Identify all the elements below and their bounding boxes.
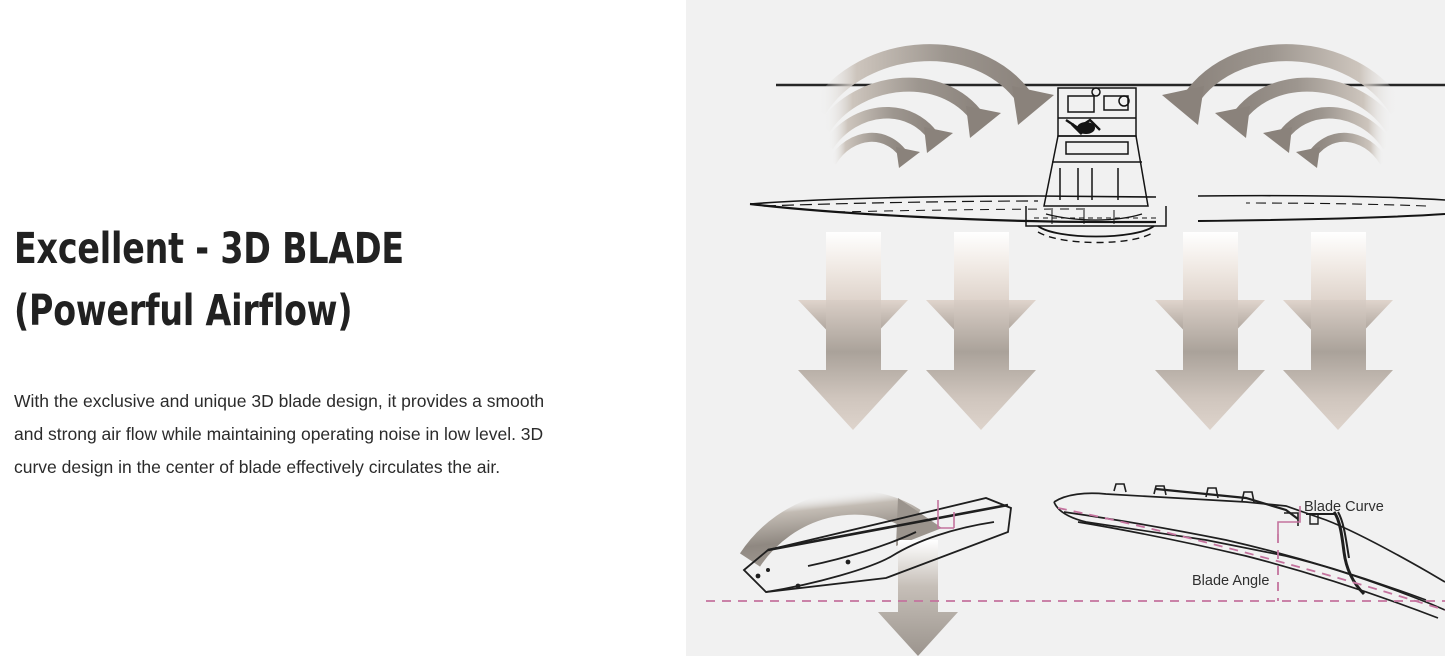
blade-angle-label: Blade Angle bbox=[1192, 573, 1269, 589]
down-arrow-4b bbox=[1283, 300, 1393, 430]
diagram-panel: Blade Curve Blade Angle bbox=[686, 0, 1445, 656]
down-arrow-2b bbox=[926, 300, 1036, 430]
curved-airflow-arrows-left bbox=[818, 53, 1054, 168]
page-title-line-2: (Powerful Airflow) bbox=[14, 280, 564, 342]
page-title: Excellent - 3D BLADE (Powerful Airflow) bbox=[14, 218, 564, 342]
text-panel: Excellent - 3D BLADE (Powerful Airflow) … bbox=[0, 0, 686, 656]
down-arrow-column-3 bbox=[1155, 232, 1265, 430]
blade-curve-label: Blade Curve bbox=[1304, 499, 1384, 515]
product-feature-slide: Excellent - 3D BLADE (Powerful Airflow) … bbox=[0, 0, 1445, 656]
down-arrow-column-1 bbox=[798, 232, 908, 430]
curved-arrow-right-4 bbox=[1296, 137, 1384, 168]
blade-3d-perspective bbox=[744, 498, 1011, 656]
body-description: With the exclusive and unique 3D blade d… bbox=[14, 385, 574, 484]
down-arrow-column-4 bbox=[1283, 232, 1393, 430]
fan-motor-housing bbox=[1026, 88, 1166, 243]
airflow-diagram: Blade Curve Blade Angle bbox=[686, 0, 1445, 656]
down-arrow-3b bbox=[1155, 300, 1265, 430]
page-title-line-1: Excellent - 3D BLADE bbox=[14, 218, 564, 280]
down-arrow-1b bbox=[798, 300, 908, 430]
curved-arrow-left-4 bbox=[832, 137, 920, 168]
down-arrow-column-2 bbox=[926, 232, 1036, 430]
curved-airflow-arrows-right bbox=[1162, 53, 1398, 168]
